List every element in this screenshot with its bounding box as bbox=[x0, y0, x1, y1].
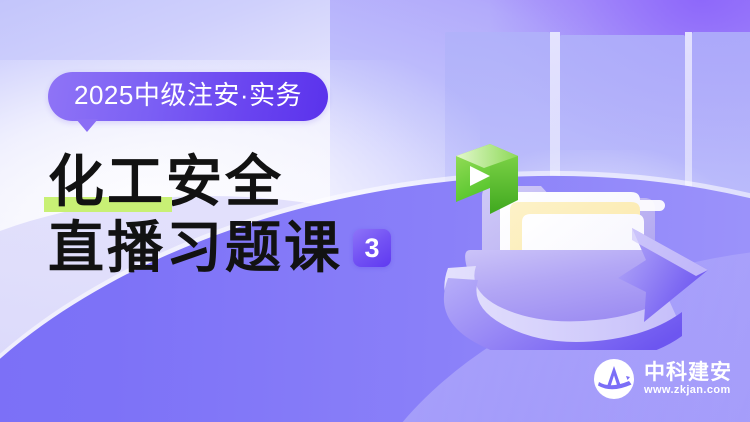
page-title: 化工安全 直播习题课 3 bbox=[48, 149, 468, 281]
logo-company-name: 中科建安 bbox=[644, 362, 732, 383]
course-tag-label: 2025中级注安·实务 bbox=[48, 72, 328, 121]
title-line-1-highlight: 化工 bbox=[48, 149, 166, 215]
course-banner: 2025中级注安·实务 化工安全 直播习题课 3 中科建安 www.zkjan.… bbox=[0, 0, 750, 422]
episode-badge: 3 bbox=[353, 229, 391, 267]
pill-tail-icon bbox=[76, 119, 98, 132]
banner-text-block: 2025中级注安·实务 化工安全 直播习题课 3 bbox=[48, 72, 468, 281]
zkjan-circle-logo-icon bbox=[593, 358, 635, 400]
title-line-2-text: 直播习题课 bbox=[48, 215, 343, 281]
brand-logo: 中科建安 www.zkjan.com bbox=[593, 358, 732, 400]
title-line-1-rest: 安全 bbox=[166, 149, 284, 215]
title-line-2: 直播习题课 3 bbox=[48, 215, 468, 281]
title-line-1: 化工安全 bbox=[48, 149, 468, 215]
logo-website-url: www.zkjan.com bbox=[644, 385, 732, 396]
title-highlight-group: 化工 bbox=[48, 149, 166, 215]
logo-text-group: 中科建安 www.zkjan.com bbox=[644, 362, 732, 396]
course-tag-pill: 2025中级注安·实务 bbox=[48, 72, 328, 121]
